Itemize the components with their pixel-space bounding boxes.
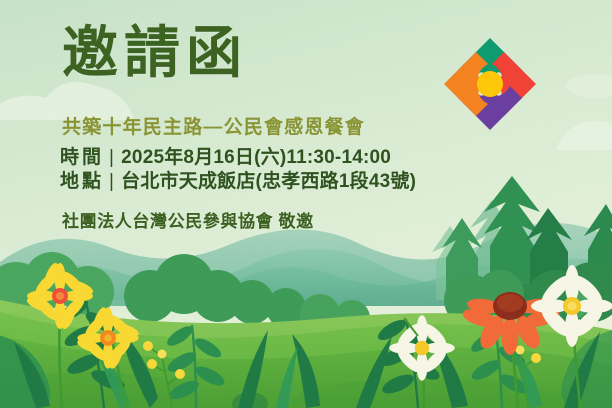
place-value: 台北市天成飯店(忠孝西路1段43號) (121, 171, 416, 192)
event-place-line: 地點|台北市天成飯店(忠孝西路1段43號) (60, 166, 416, 193)
poster-title: 邀請函 (62, 26, 248, 82)
four-people-rosette-logo (438, 32, 542, 136)
poster-subtitle: 共築十年民主路—公民會感恩餐會 (62, 112, 365, 139)
time-value: 2025年8月16日(六)11:30-14:00 (121, 147, 391, 168)
host-signature: 社團法人台灣公民參與協會 敬邀 (62, 207, 314, 232)
time-label: 時間 (60, 147, 104, 168)
place-label: 地點 (60, 171, 104, 192)
event-time-line: 時間|2025年8月16日(六)11:30-14:00 (60, 142, 391, 169)
place-separator: | (109, 171, 114, 193)
logo-center-circle (477, 71, 503, 97)
logo-graphic (438, 32, 542, 136)
invitation-poster: 邀請函 共築十年民主路—公民會感恩餐會 時間|2025年8月16日(六)11:3… (0, 0, 612, 408)
